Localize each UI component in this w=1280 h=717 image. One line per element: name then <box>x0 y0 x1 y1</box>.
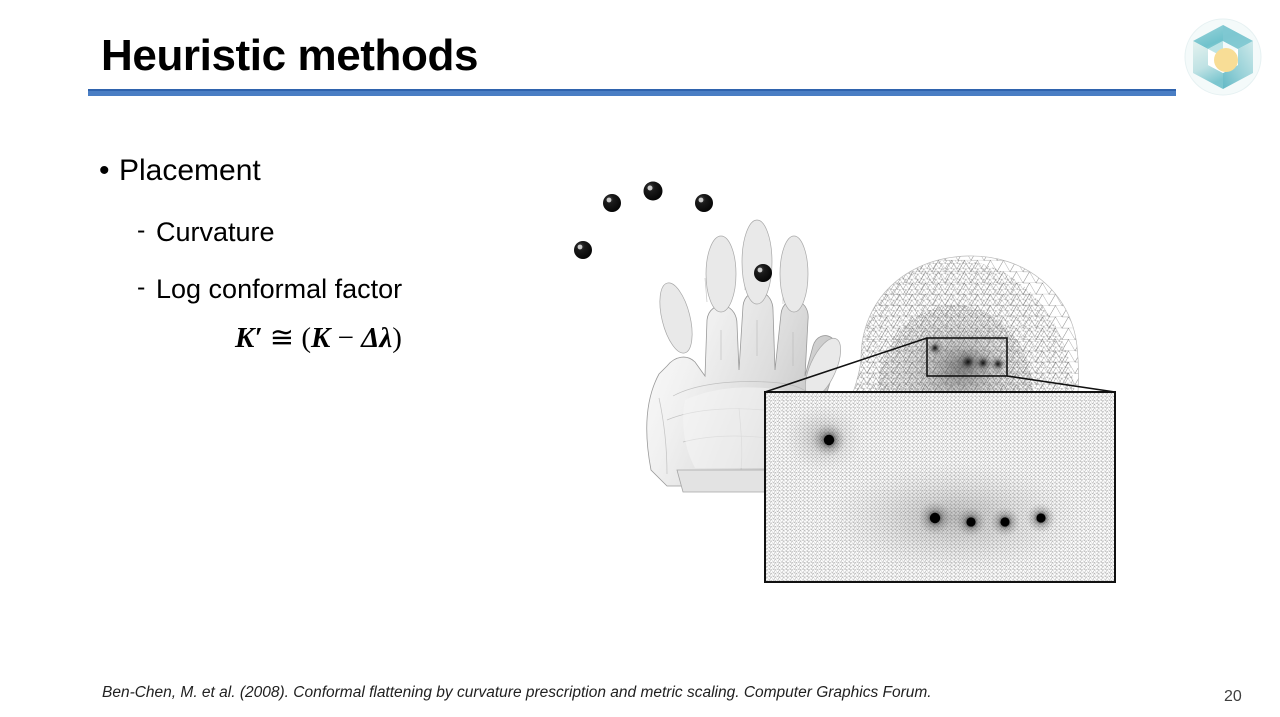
hexagon-cube-logo <box>1182 16 1264 98</box>
bullet-label-placement: Placement <box>119 154 261 187</box>
formula-conformal-curvature: K′ ≅ (K − Δλ) <box>235 320 402 356</box>
bullet-item-curvature: -Curvature <box>137 215 275 250</box>
logo-icon <box>1182 16 1264 98</box>
logo-center-dot <box>1214 48 1238 72</box>
fingertip-marker <box>574 241 592 259</box>
bullet-marker-dot: • <box>99 152 119 190</box>
bullet-item-placement: •Placement <box>99 152 261 190</box>
page-number: 20 <box>1224 688 1242 706</box>
fingertip-marker <box>644 182 663 201</box>
formula-term-delta-lambda: Δλ <box>361 322 392 354</box>
bullet-marker-dash: - <box>137 270 156 304</box>
formula-open-paren: ( <box>301 322 311 354</box>
bullet-label-log-conformal-factor: Log conformal factor <box>156 274 402 304</box>
fingertip-marker <box>695 194 713 212</box>
bullet-marker-dash: - <box>137 213 156 247</box>
conformal-flattening-figure <box>555 170 1225 600</box>
formula-close-paren: ) <box>392 322 402 354</box>
bullet-label-curvature: Curvature <box>156 217 275 247</box>
citation-text: Ben-Chen, M. et al. (2008). Conformal fl… <box>102 684 932 702</box>
fingertip-marker <box>754 264 772 282</box>
formula-term-k: K <box>311 322 330 354</box>
formula-lhs: K′ <box>235 322 263 354</box>
formula-minus-sign: − <box>338 322 354 354</box>
page-title: Heuristic methods <box>101 30 478 82</box>
formula-relation: ≅ <box>270 322 294 354</box>
fingertip-marker <box>603 194 621 212</box>
bullet-item-log-conformal-factor: -Log conformal factor <box>137 272 402 307</box>
slide-canvas: Heuristic methods <box>0 0 1280 717</box>
mesh-zoom-inset <box>765 392 1115 582</box>
title-underline-rule <box>88 89 1176 96</box>
